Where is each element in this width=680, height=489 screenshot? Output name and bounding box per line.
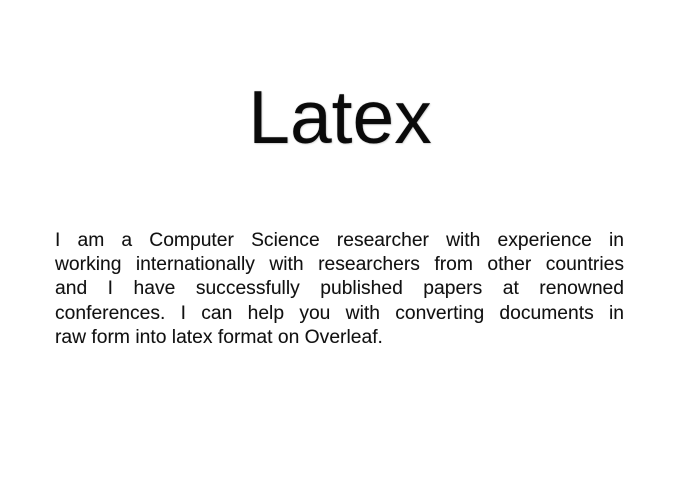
description-line: conferences. I can help you with convert…: [55, 302, 624, 326]
page-title: Latex: [0, 74, 680, 160]
description-line: raw form into latex format on Overleaf.: [55, 326, 624, 350]
description-paragraph: I am a Computer Science researcher with …: [55, 229, 624, 350]
slide-canvas: Latex I am a Computer Science researcher…: [0, 0, 680, 489]
description-line: and I have successfully published papers…: [55, 277, 624, 301]
description-line: working internationally with researchers…: [55, 253, 624, 277]
description-line: I am a Computer Science researcher with …: [55, 229, 624, 253]
